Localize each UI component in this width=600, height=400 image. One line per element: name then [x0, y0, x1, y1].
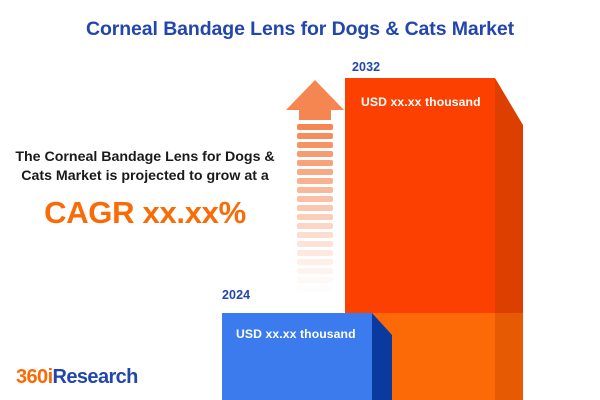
bar-2032-front-upper: [345, 78, 495, 313]
bar-year-label-2024: 2024: [222, 288, 250, 302]
bar-value-label-2032: USD xx.xx thousand: [361, 95, 481, 109]
bar-year-label-2032: 2032: [352, 60, 380, 74]
cagr-value: CAGR xx.xx%: [14, 195, 276, 231]
market-infographic: Corneal Bandage Lens for Dogs & Cats Mar…: [0, 0, 600, 400]
bar-2032-side-upper: [495, 78, 523, 313]
bar-2032-side-lower: [495, 313, 523, 400]
bar-value-label-2024: USD xx.xx thousand: [236, 327, 356, 341]
cagr-statement-block: The Corneal Bandage Lens for Dogs & Cats…: [14, 148, 276, 231]
logo-360i-text: 360i: [16, 366, 53, 388]
up-arrow-icon: [286, 80, 344, 292]
page-title: Corneal Bandage Lens for Dogs & Cats Mar…: [0, 18, 600, 41]
company-logo: 360iResearch: [16, 366, 138, 389]
cagr-statement-text: The Corneal Bandage Lens for Dogs & Cats…: [14, 148, 276, 186]
bar-2024-side: [372, 313, 392, 400]
logo-research-text: Research: [53, 366, 138, 388]
